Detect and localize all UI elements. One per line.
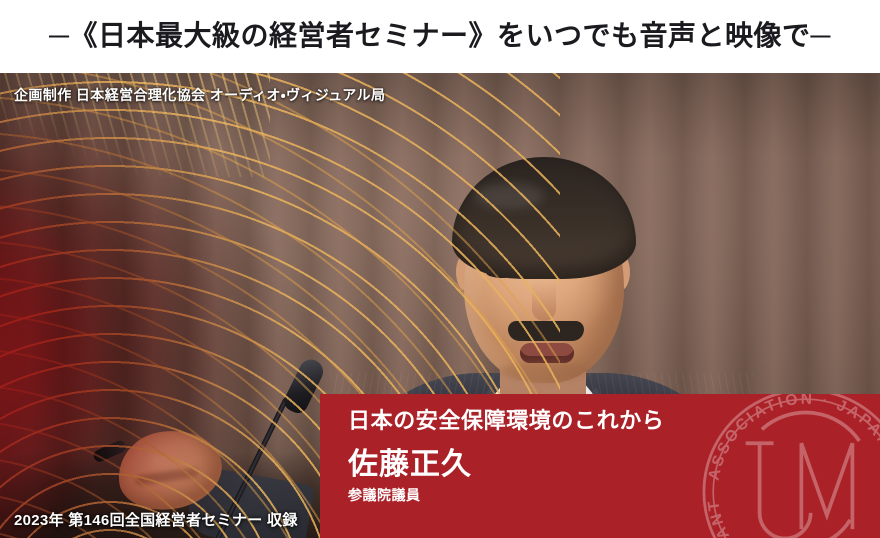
- title-panel: ASSOCIATION · JAPAN · MANAGEMENT · CONSU…: [320, 394, 880, 538]
- title-panel-text: 日本の安全保障環境のこれから 佐藤正久 参議院議員: [348, 408, 866, 504]
- page-title: ─《日本最大級の経営者セミナー》をいつでも音声と映像で─: [49, 23, 831, 51]
- lecture-title: 日本の安全保障環境のこれから: [348, 408, 866, 434]
- mustache: [508, 321, 584, 341]
- speaker-role: 参議院議員: [348, 487, 866, 504]
- chin: [500, 361, 590, 383]
- mouth: [520, 343, 574, 363]
- seminar-thumbnail: ─《日本最大級の経営者セミナー》をいつでも音声と映像で─: [0, 0, 880, 538]
- video-frame[interactable]: 企画制作 日本経営合理化協会 オーディオ・ヴィジュアル局 2023年 第146回…: [0, 73, 880, 538]
- nose: [532, 281, 556, 321]
- header-band: ─《日本最大級の経営者セミナー》をいつでも音声と映像で─: [0, 0, 880, 73]
- recording-caption: 2023年 第146回全国経営者セミナー 収録: [14, 509, 298, 530]
- speaker-name: 佐藤正久: [348, 448, 866, 481]
- hair: [452, 157, 636, 279]
- production-credit: 企画制作 日本経営合理化協会 オーディオ・ヴィジュアル局: [14, 85, 385, 105]
